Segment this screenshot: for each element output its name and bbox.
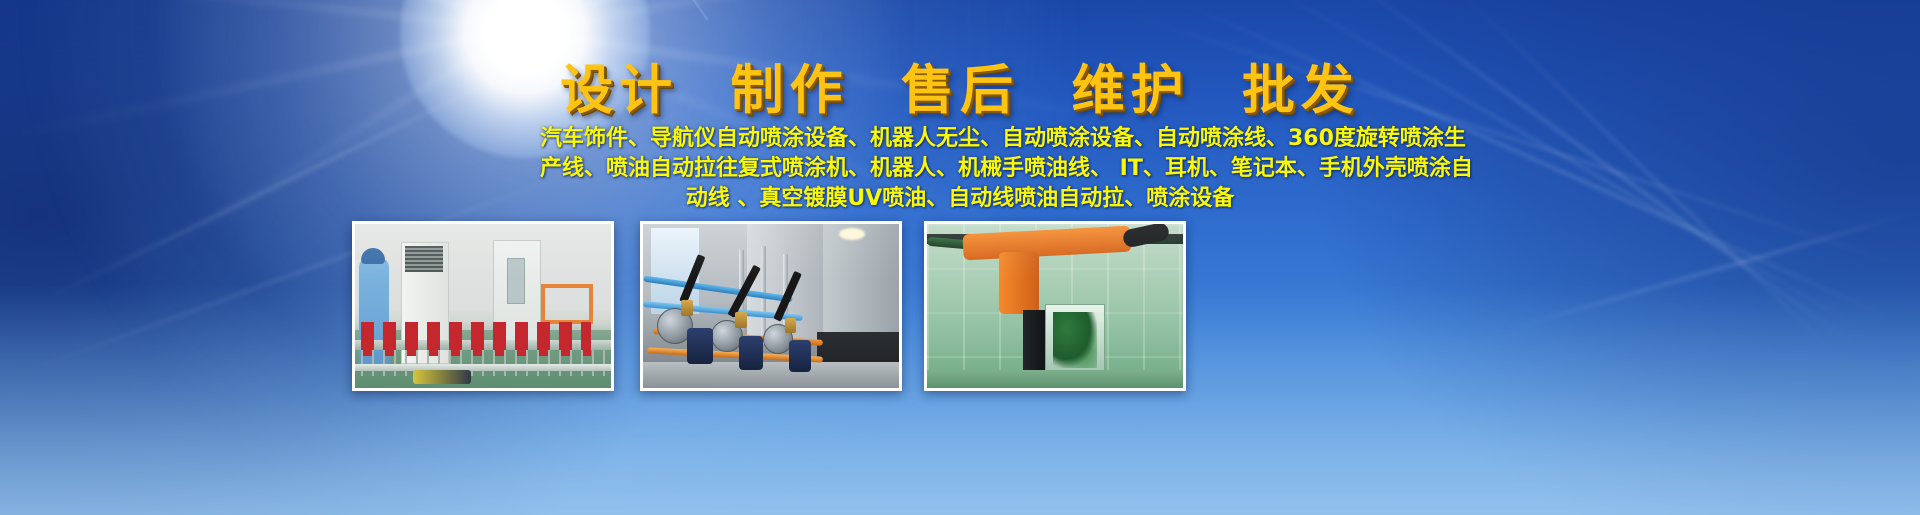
- photo3-coating-pattern: [1053, 312, 1097, 368]
- headline-word-maintenance: 维护: [1071, 60, 1189, 121]
- photo1-vent: [405, 246, 443, 272]
- photo2-brass-fitting: [785, 318, 796, 333]
- photo2-gun-body: [687, 328, 713, 364]
- subtitle-line-2: 产线、喷油自动拉往复式喷涂机、机器人、机械手喷油线、 IT、耳机、笔记本、手机外…: [540, 154, 1380, 184]
- banner-headline: 设计 制作 售后 维护 批发: [0, 48, 1920, 124]
- photo-cleanroom-coating-line[interactable]: [352, 221, 614, 391]
- banner-subtitle: 汽车饰件、导航仪自动喷涂设备、机器人无尘、自动喷涂设备、自动喷涂线、360度旋转…: [540, 124, 1380, 214]
- photo2-gun-body: [789, 340, 811, 372]
- photo1-hangers: [361, 350, 605, 376]
- subtitle-line-3: 动线 、真空镀膜UV喷油、自动线喷油自动拉、喷涂设备: [540, 184, 1380, 214]
- headline-word-wholesale: 批发: [1242, 60, 1360, 121]
- photo2-lamp: [839, 228, 865, 240]
- photo2-floor: [643, 362, 899, 388]
- headline-word-manufacture: 制作: [731, 60, 849, 121]
- photo1-rail: [355, 364, 611, 371]
- photo-robot-arm-booth[interactable]: [924, 221, 1186, 391]
- photo2-gun-body: [739, 336, 763, 370]
- photo1-orange-frame: [541, 284, 593, 324]
- headline-word-design: 设计: [560, 60, 678, 121]
- photo1-tool: [413, 370, 471, 384]
- subtitle-line-1: 汽车饰件、导航仪自动喷涂设备、机器人无尘、自动喷涂设备、自动喷涂线、360度旋转…: [540, 124, 1380, 154]
- photo-spray-booth-guns[interactable]: [640, 221, 902, 391]
- photo2-steel-panel: [823, 224, 901, 348]
- headline-word-aftersales: 售后: [901, 60, 1019, 121]
- photo-gallery: [352, 221, 1192, 391]
- promo-banner: 设计 制作 售后 维护 批发 汽车饰件、导航仪自动喷涂设备、机器人无尘、自动喷涂…: [0, 0, 1920, 515]
- photo2-brass-fitting: [735, 312, 747, 328]
- photo2-brass-fitting: [681, 300, 693, 316]
- photo1-door-window: [507, 258, 525, 304]
- photo3-robot-forearm: [999, 252, 1039, 314]
- photo3-floor: [927, 370, 1183, 388]
